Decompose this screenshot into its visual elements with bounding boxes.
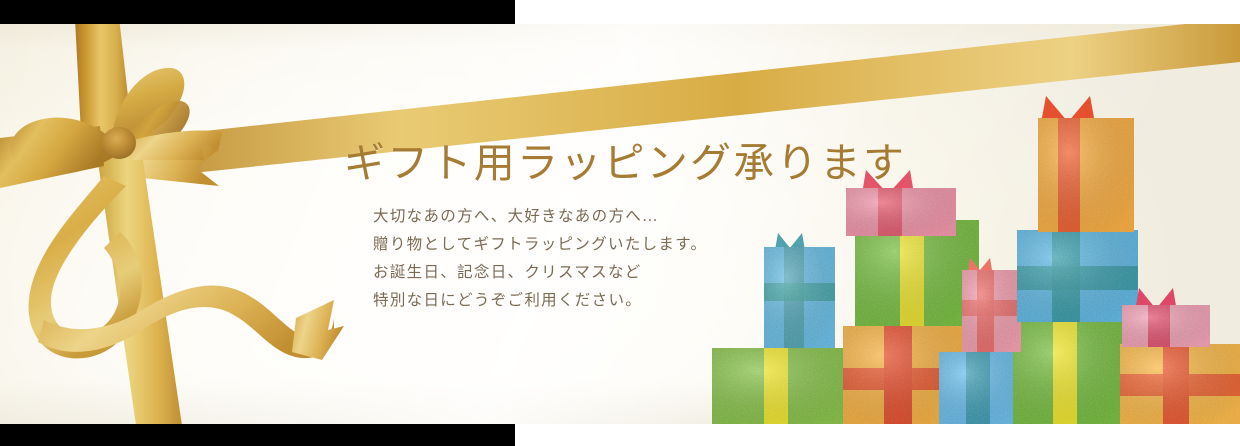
description-text: 大切なあの方へ、大好きなあの方へ… 贈り物としてギフトラッピングいたします。 お… [373, 203, 707, 315]
description-line-3: お誕生日、記念日、クリスマスなど [373, 259, 707, 287]
bottom-left-black-band [0, 424, 515, 446]
gift-wrapping-banner: ギフト用ラッピング承ります 大切なあの方へ、大好きなあの方へ… 贈り物としてギフ… [0, 0, 1240, 446]
bottom-right-white-band [515, 424, 1240, 446]
top-left-black-band [0, 0, 515, 24]
top-right-white-band [515, 0, 1240, 24]
description-line-2: 贈り物としてギフトラッピングいたします。 [373, 231, 707, 259]
description-line-4: 特別な日にどうぞご利用ください。 [373, 287, 707, 315]
page-title: ギフト用ラッピング承ります [344, 129, 906, 189]
description-line-1: 大切なあの方へ、大好きなあの方へ… [373, 203, 707, 231]
